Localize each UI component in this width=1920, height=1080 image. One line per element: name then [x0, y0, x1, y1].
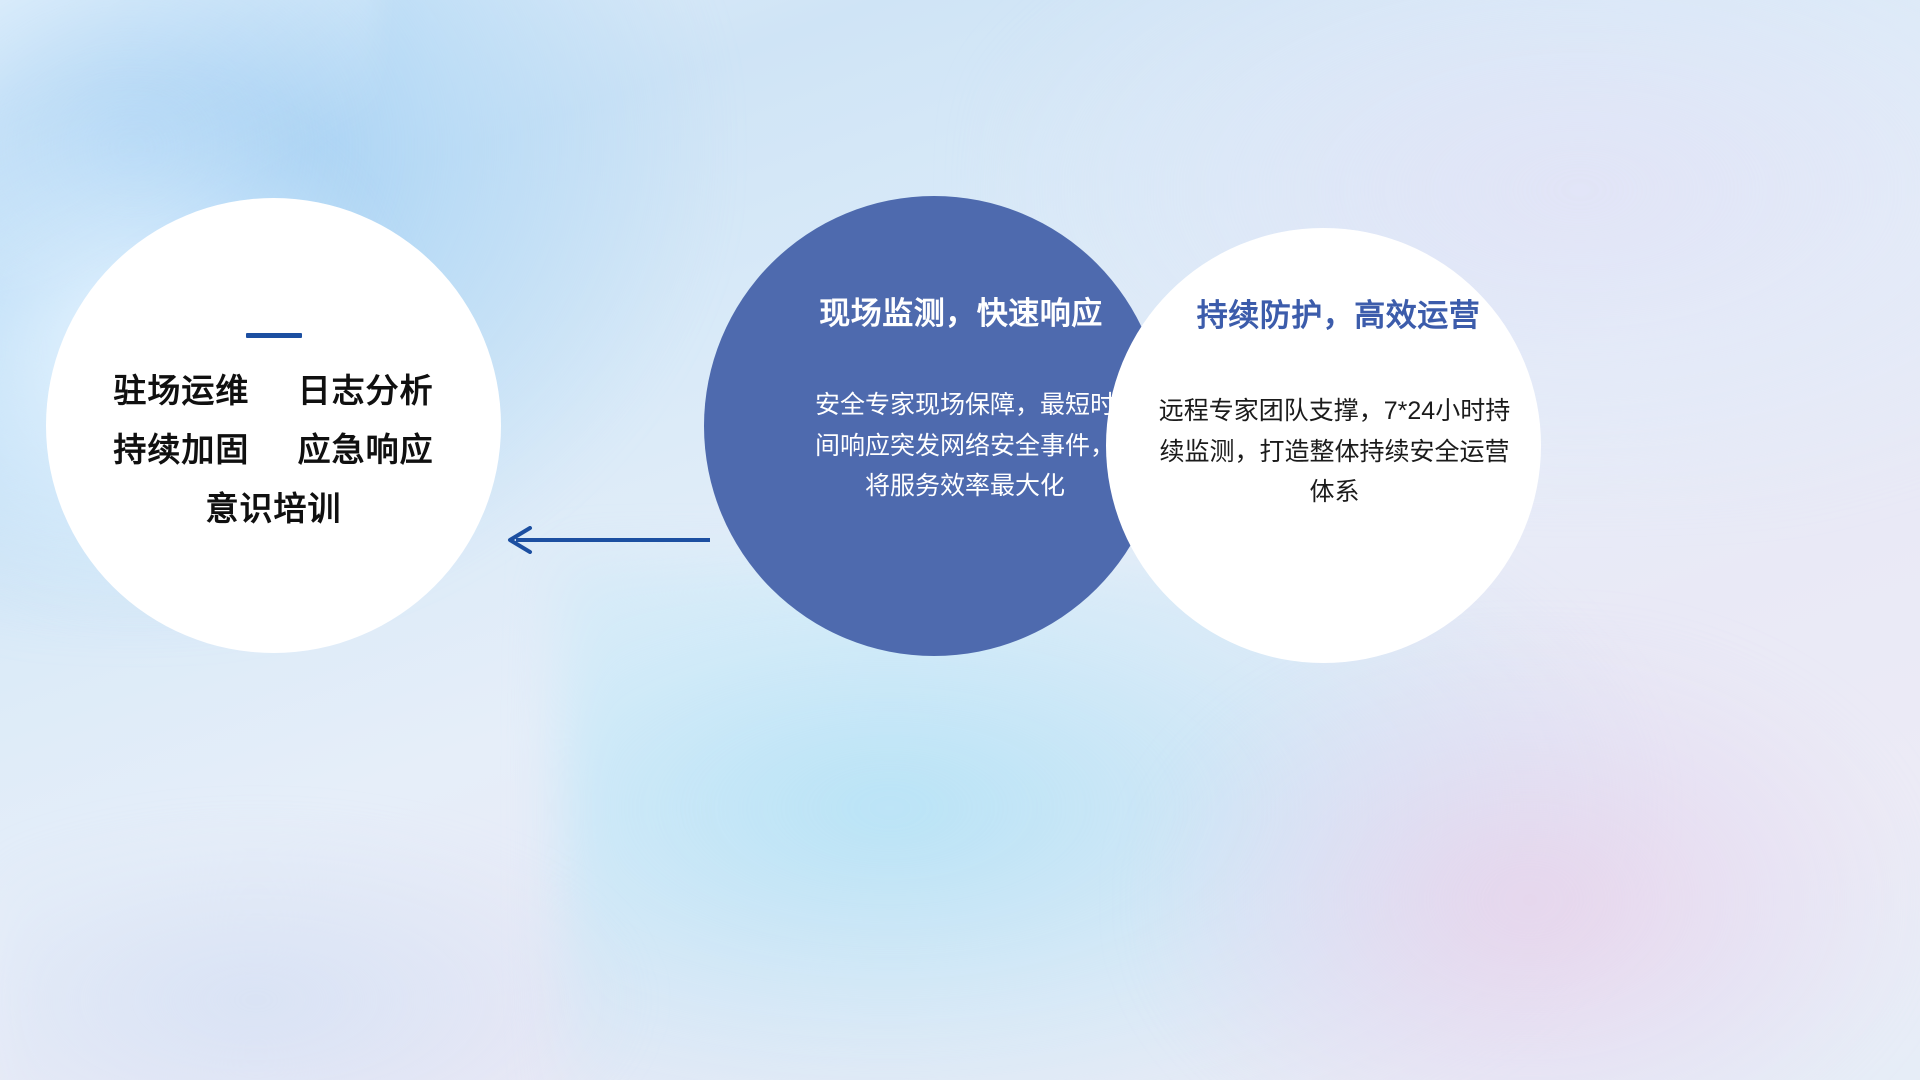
- left-circle-tag-2: 日志分析: [298, 372, 434, 409]
- arrow-icon: [494, 526, 710, 554]
- left-circle-line-1: 驻场运维 日志分析: [113, 374, 433, 407]
- left-circle-tag-3: 持续加固: [113, 431, 249, 468]
- left-circle-line-3: 意识培训: [206, 492, 342, 525]
- flow-arrow-left: [494, 526, 710, 554]
- left-circle-tag-4: 应急响应: [298, 431, 434, 468]
- left-circle-divider-rule: [246, 333, 302, 338]
- left-circle-tag-5: 意识培训: [206, 490, 342, 527]
- left-circle-content: 驻场运维 日志分析 持续加固 应急响应 意识培训: [46, 198, 501, 653]
- right-circle-content: 持续防护，高效运营 远程专家团队支撑，7*24小时持续监测，打造整体持续安全运营…: [1106, 228, 1541, 663]
- background-glow-bottom-left: [0, 820, 640, 1080]
- background-glow-bottom-right: [1150, 640, 1910, 1080]
- slide-canvas: 驻场运维 日志分析 持续加固 应急响应 意识培训 现场监测，快速响应 安全专家现…: [0, 0, 1920, 1080]
- middle-circle-body: 安全专家现场保障，最短时间响应突发网络安全事件，将服务效率最大化: [815, 385, 1115, 507]
- left-circle-line-2: 持续加固 应急响应: [113, 433, 433, 466]
- right-circle-body: 远程专家团队支撑，7*24小时持续监测，打造整体持续安全运营体系: [1155, 391, 1515, 513]
- middle-circle-content: 现场监测，快速响应 安全专家现场保障，最短时间响应突发网络安全事件，将服务效率最…: [704, 196, 1164, 656]
- right-circle-title: 持续防护，高效运营: [1197, 290, 1481, 335]
- middle-circle-title: 现场监测，快速响应: [819, 288, 1103, 333]
- left-circle-tag-1: 驻场运维: [113, 372, 249, 409]
